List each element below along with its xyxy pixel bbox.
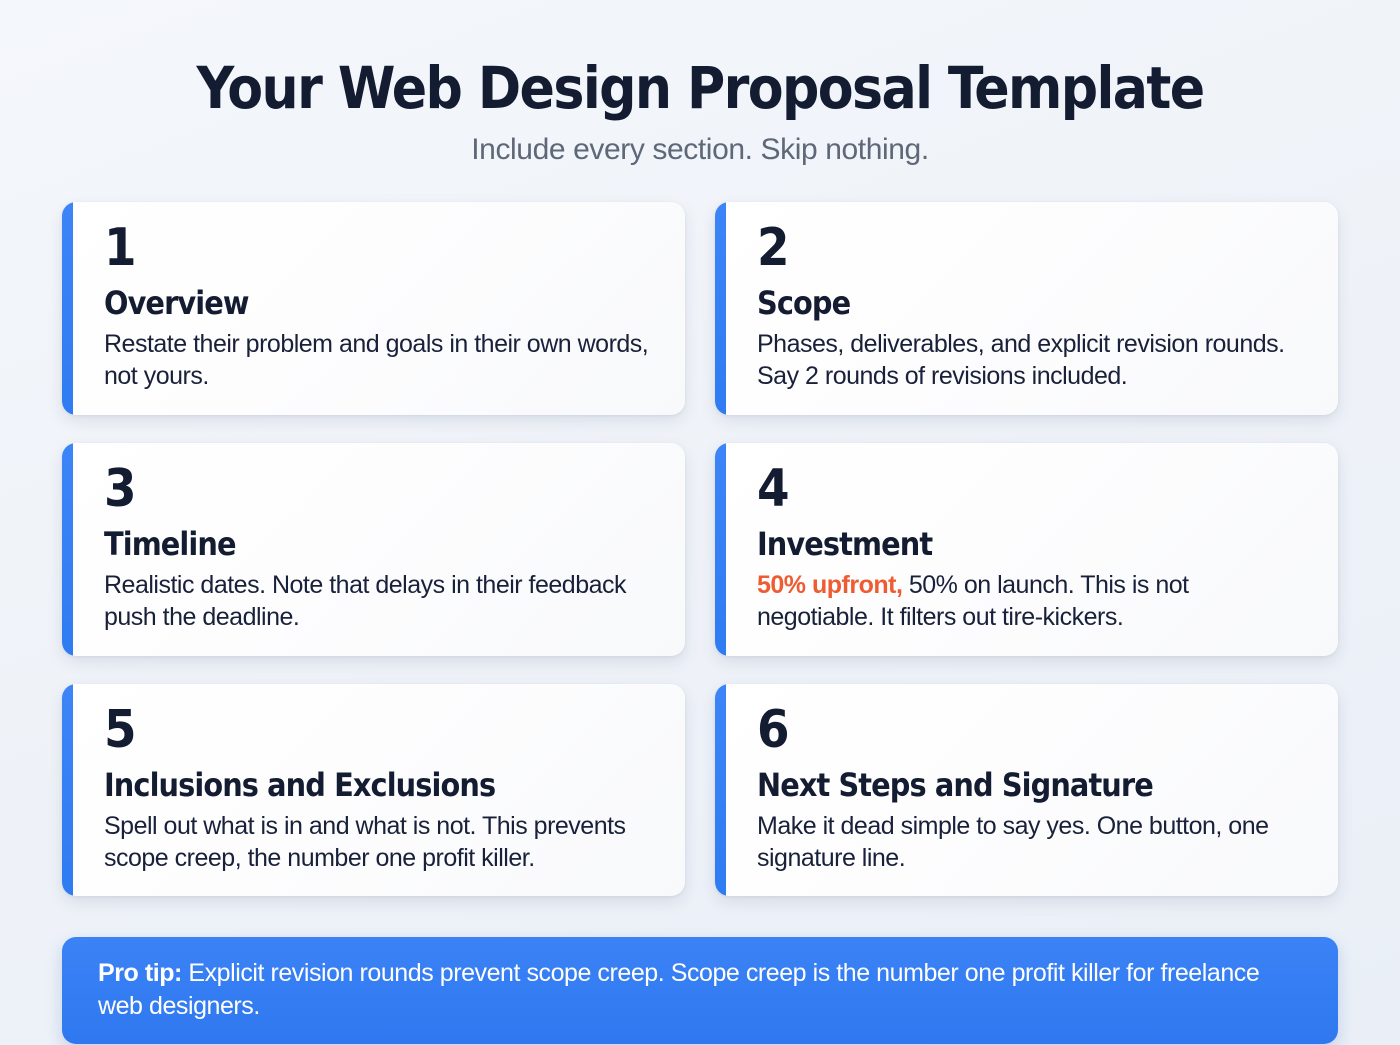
page-header: Your Web Design Proposal Template Includ… — [62, 0, 1338, 168]
card-heading: Inclusions and Exclusions — [104, 769, 655, 803]
section-card-grid: 1 Overview Restate their problem and goa… — [62, 202, 1338, 896]
accent-bar-icon — [62, 202, 73, 415]
pro-tip-text: Pro tip: Explicit revision rounds preven… — [98, 957, 1302, 1022]
section-card-5[interactable]: 5 Inclusions and Exclusions Spell out wh… — [62, 684, 685, 896]
section-card-6[interactable]: 6 Next Steps and Signature Make it dead … — [715, 684, 1338, 896]
card-heading: Overview — [104, 287, 655, 321]
section-card-4[interactable]: 4 Investment 50% upfront, 50% on launch.… — [715, 443, 1338, 656]
infographic-page: Your Web Design Proposal Template Includ… — [0, 0, 1400, 1045]
card-heading: Timeline — [104, 528, 655, 562]
pro-tip-lead: Pro tip: — [98, 959, 182, 987]
accent-bar-icon — [62, 684, 73, 896]
accent-bar-icon — [62, 443, 73, 656]
card-body-highlight: 50% upfront, — [757, 571, 902, 599]
card-body: 50% upfront, 50% on launch. This is not … — [757, 569, 1308, 633]
card-number: 1 — [104, 224, 655, 274]
accent-bar-icon — [715, 202, 726, 415]
card-body: Phases, deliverables, and explicit revis… — [757, 328, 1308, 392]
card-number: 6 — [757, 706, 1308, 756]
card-number: 2 — [757, 224, 1308, 274]
page-subtitle: Include every section. Skip nothing. — [62, 132, 1338, 168]
card-body: Restate their problem and goals in their… — [104, 328, 655, 392]
card-heading: Investment — [757, 528, 1308, 562]
pro-tip-body: Explicit revision rounds prevent scope c… — [98, 959, 1259, 1020]
card-body: Realistic dates. Note that delays in the… — [104, 569, 655, 633]
card-body: Spell out what is in and what is not. Th… — [104, 810, 655, 874]
pro-tip-banner: Pro tip: Explicit revision rounds preven… — [62, 937, 1338, 1044]
card-number: 4 — [757, 465, 1308, 515]
card-body: Make it dead simple to say yes. One butt… — [757, 810, 1308, 874]
card-heading: Scope — [757, 287, 1308, 321]
card-number: 5 — [104, 706, 655, 756]
section-card-2[interactable]: 2 Scope Phases, deliverables, and explic… — [715, 202, 1338, 415]
section-card-1[interactable]: 1 Overview Restate their problem and goa… — [62, 202, 685, 415]
card-number: 3 — [104, 465, 655, 515]
accent-bar-icon — [715, 443, 726, 656]
section-card-3[interactable]: 3 Timeline Realistic dates. Note that de… — [62, 443, 685, 656]
accent-bar-icon — [715, 684, 726, 896]
card-heading: Next Steps and Signature — [757, 769, 1308, 803]
page-title: Your Web Design Proposal Template — [62, 58, 1338, 118]
